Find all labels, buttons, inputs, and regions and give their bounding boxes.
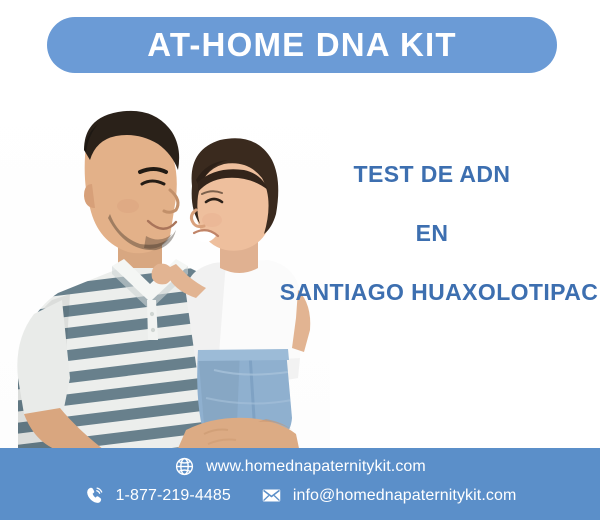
- website-item[interactable]: www.homednapaternitykit.com: [174, 456, 426, 477]
- headline-line-1: TEST DE ADN: [262, 160, 600, 189]
- footer-row-phone-email: 1-877-219-4485 info@homednapaternitykit.…: [0, 485, 600, 506]
- phone-icon: [84, 485, 105, 506]
- banner-title: AT-HOME DNA KIT: [147, 26, 456, 64]
- phone-text: 1-877-219-4485: [116, 487, 231, 505]
- header-banner: AT-HOME DNA KIT: [47, 17, 557, 73]
- poster-root: AT-HOME DNA KIT: [0, 0, 600, 520]
- website-text: www.homednapaternitykit.com: [206, 458, 426, 476]
- footer-row-website: www.homednapaternitykit.com: [0, 456, 600, 477]
- headline-block: TEST DE ADN EN SANTIAGO HUAXOLOTIPAC: [262, 160, 600, 306]
- footer-contact-bar: www.homednapaternitykit.com 1-877-219-44…: [0, 448, 600, 520]
- email-text: info@homednapaternitykit.com: [293, 487, 517, 505]
- globe-icon: [174, 456, 195, 477]
- envelope-icon: [261, 485, 282, 506]
- headline-line-2: EN: [262, 219, 600, 248]
- headline-line-3: SANTIAGO HUAXOLOTIPAC: [276, 278, 600, 307]
- email-item[interactable]: info@homednapaternitykit.com: [261, 485, 517, 506]
- phone-item[interactable]: 1-877-219-4485: [84, 485, 231, 506]
